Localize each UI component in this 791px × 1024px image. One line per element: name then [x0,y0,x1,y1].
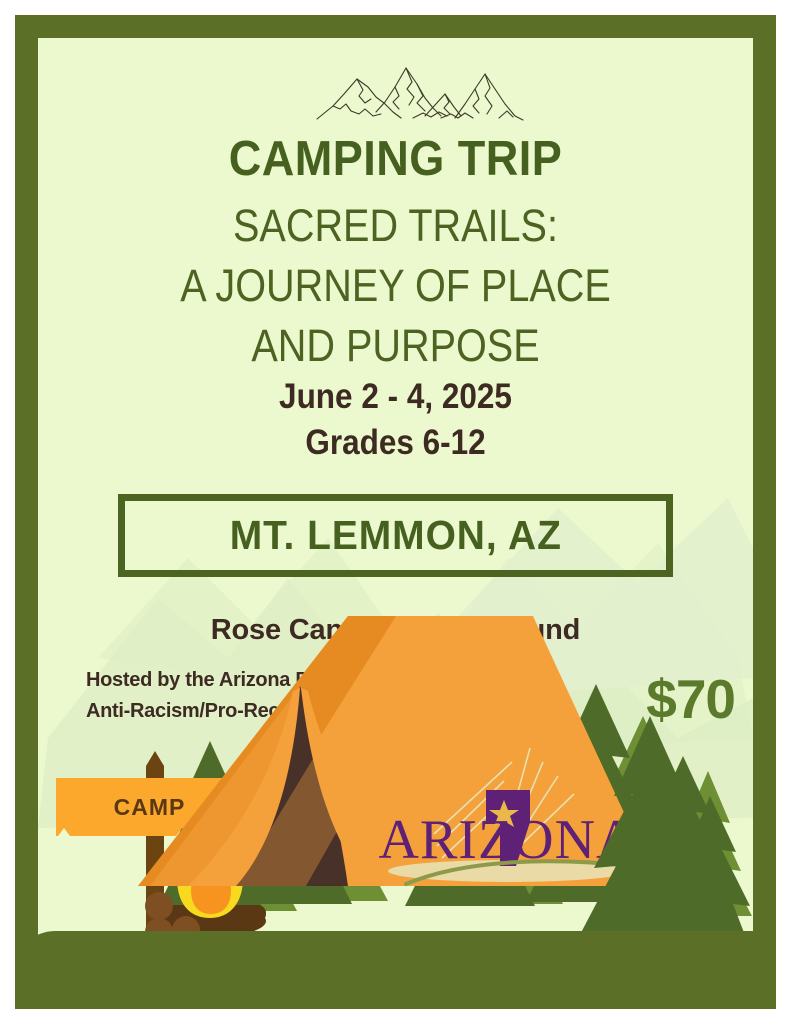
poster-subtitle: SACRED TRAILS: A JOURNEY OF PLACE AND PU… [81,196,710,376]
logo-arc [406,861,630,884]
logo-glow [388,860,628,882]
tent-body [138,616,658,886]
logo-state-shape [486,790,530,866]
flame-inner [191,854,231,914]
tree-overlap-group [574,716,753,956]
hosted-by-text: Hosted by the Arizona Regional Anti-Raci… [86,665,516,727]
poster-root: CAMPING TRIP SACRED TRAILS: A JOURNEY OF… [0,0,791,1024]
sign-text-wrapper: CAMP [56,778,243,836]
hosted-line-2: Anti-Racism/Pro-Reconciliation Team [86,696,516,727]
price-text: $70 [646,667,735,731]
tent [138,616,658,886]
logo-rays [434,748,574,858]
location-text: MT. LEMMON, AZ [229,512,561,559]
subtitle-line-1: SACRED TRAILS: [81,196,710,256]
mountain-line-art-icon [313,56,528,128]
arizona-logo: ARIZONA [379,748,638,884]
event-dates: June 2 - 4, 2025 [74,374,718,420]
event-details: June 2 - 4, 2025 Grades 6-12 [74,374,718,466]
logo-wordmark: ARIZONA [379,809,638,871]
campground-name: Rose Canyon Campground [38,614,753,647]
location-box: MT. LEMMON, AZ [118,494,673,577]
sign-post-cap [146,751,164,766]
event-grades: Grades 6-12 [74,420,718,466]
subtitle-line-3: AND PURPOSE [81,316,710,376]
subtitle-line-2: A JOURNEY OF PLACE [81,256,710,316]
logo-star-icon [489,800,519,827]
hosted-line-1: Hosted by the Arizona Regional [86,665,516,696]
poster-frame: CAMPING TRIP SACRED TRAILS: A JOURNEY OF… [15,15,776,1009]
poster-canvas: CAMPING TRIP SACRED TRAILS: A JOURNEY OF… [38,38,753,986]
sign-label: CAMP [56,778,243,836]
log-end [145,892,173,920]
page-title: CAMPING TRIP [67,131,725,187]
tent-left-panel [138,616,396,886]
ground-band [38,931,753,986]
